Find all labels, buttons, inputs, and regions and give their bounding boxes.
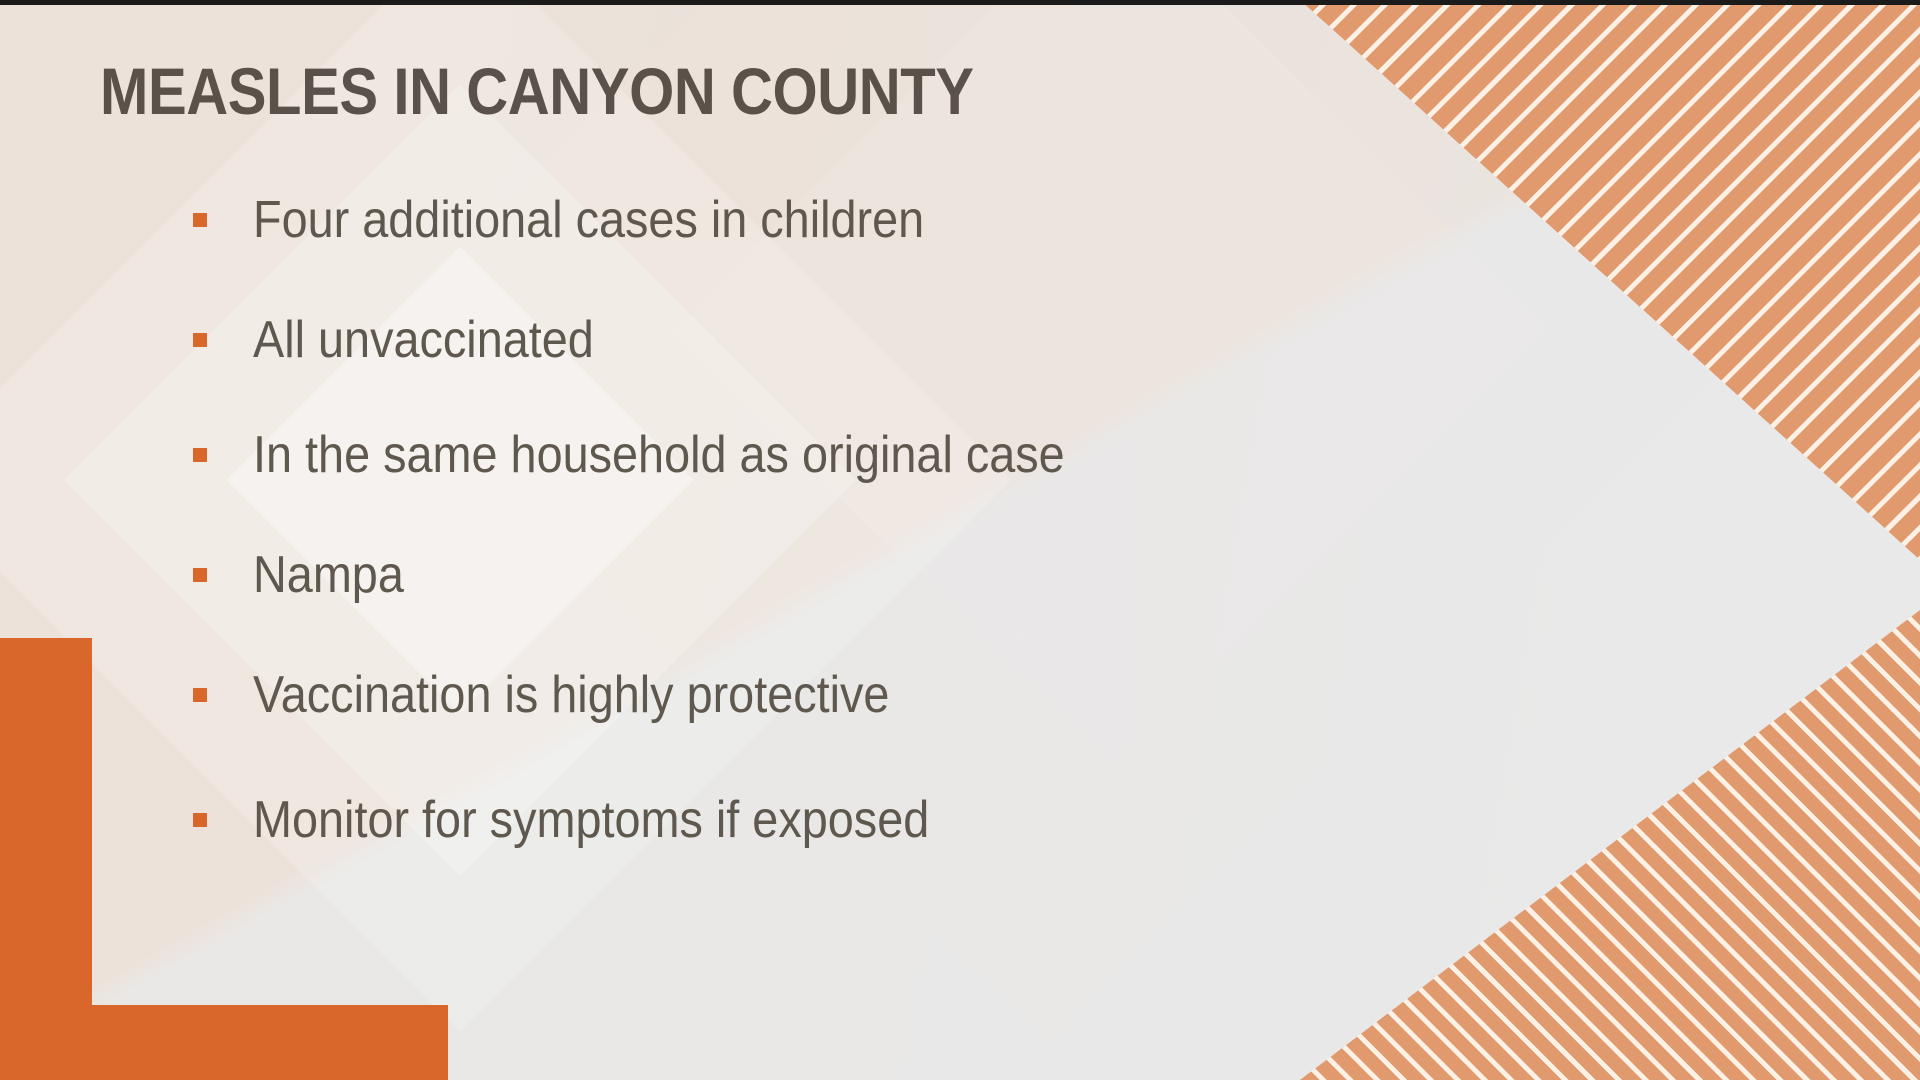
bullet-item-6: Monitor for symptoms if exposed bbox=[193, 790, 1004, 850]
square-bullet-icon bbox=[193, 333, 207, 347]
slide-content: MEASLES IN CANYON COUNTY Four additional… bbox=[0, 0, 1920, 1080]
square-bullet-icon bbox=[193, 448, 207, 462]
presentation-slide: MEASLES IN CANYON COUNTY Four additional… bbox=[0, 0, 1920, 1080]
square-bullet-icon bbox=[193, 813, 207, 827]
bullet-item-3: In the same household as original case bbox=[193, 425, 1155, 485]
bullet-item-5-label: Vaccination is highly protective bbox=[253, 666, 889, 724]
bullet-item-4: Nampa bbox=[193, 545, 421, 605]
bullet-item-3-label: In the same household as original case bbox=[253, 426, 1065, 484]
bullet-item-4-label: Nampa bbox=[253, 546, 404, 604]
bullet-item-1: Four additional cases in children bbox=[193, 190, 999, 250]
square-bullet-icon bbox=[193, 213, 207, 227]
bullet-item-5: Vaccination is highly protective bbox=[193, 665, 960, 725]
slide-title: MEASLES IN CANYON COUNTY bbox=[100, 55, 974, 127]
square-bullet-icon bbox=[193, 688, 207, 702]
bullet-item-2-label: All unvaccinated bbox=[253, 311, 594, 369]
bullet-item-2: All unvaccinated bbox=[193, 310, 632, 370]
square-bullet-icon bbox=[193, 568, 207, 582]
bullet-item-6-label: Monitor for symptoms if exposed bbox=[253, 791, 929, 849]
bullet-item-1-label: Four additional cases in children bbox=[253, 191, 924, 249]
